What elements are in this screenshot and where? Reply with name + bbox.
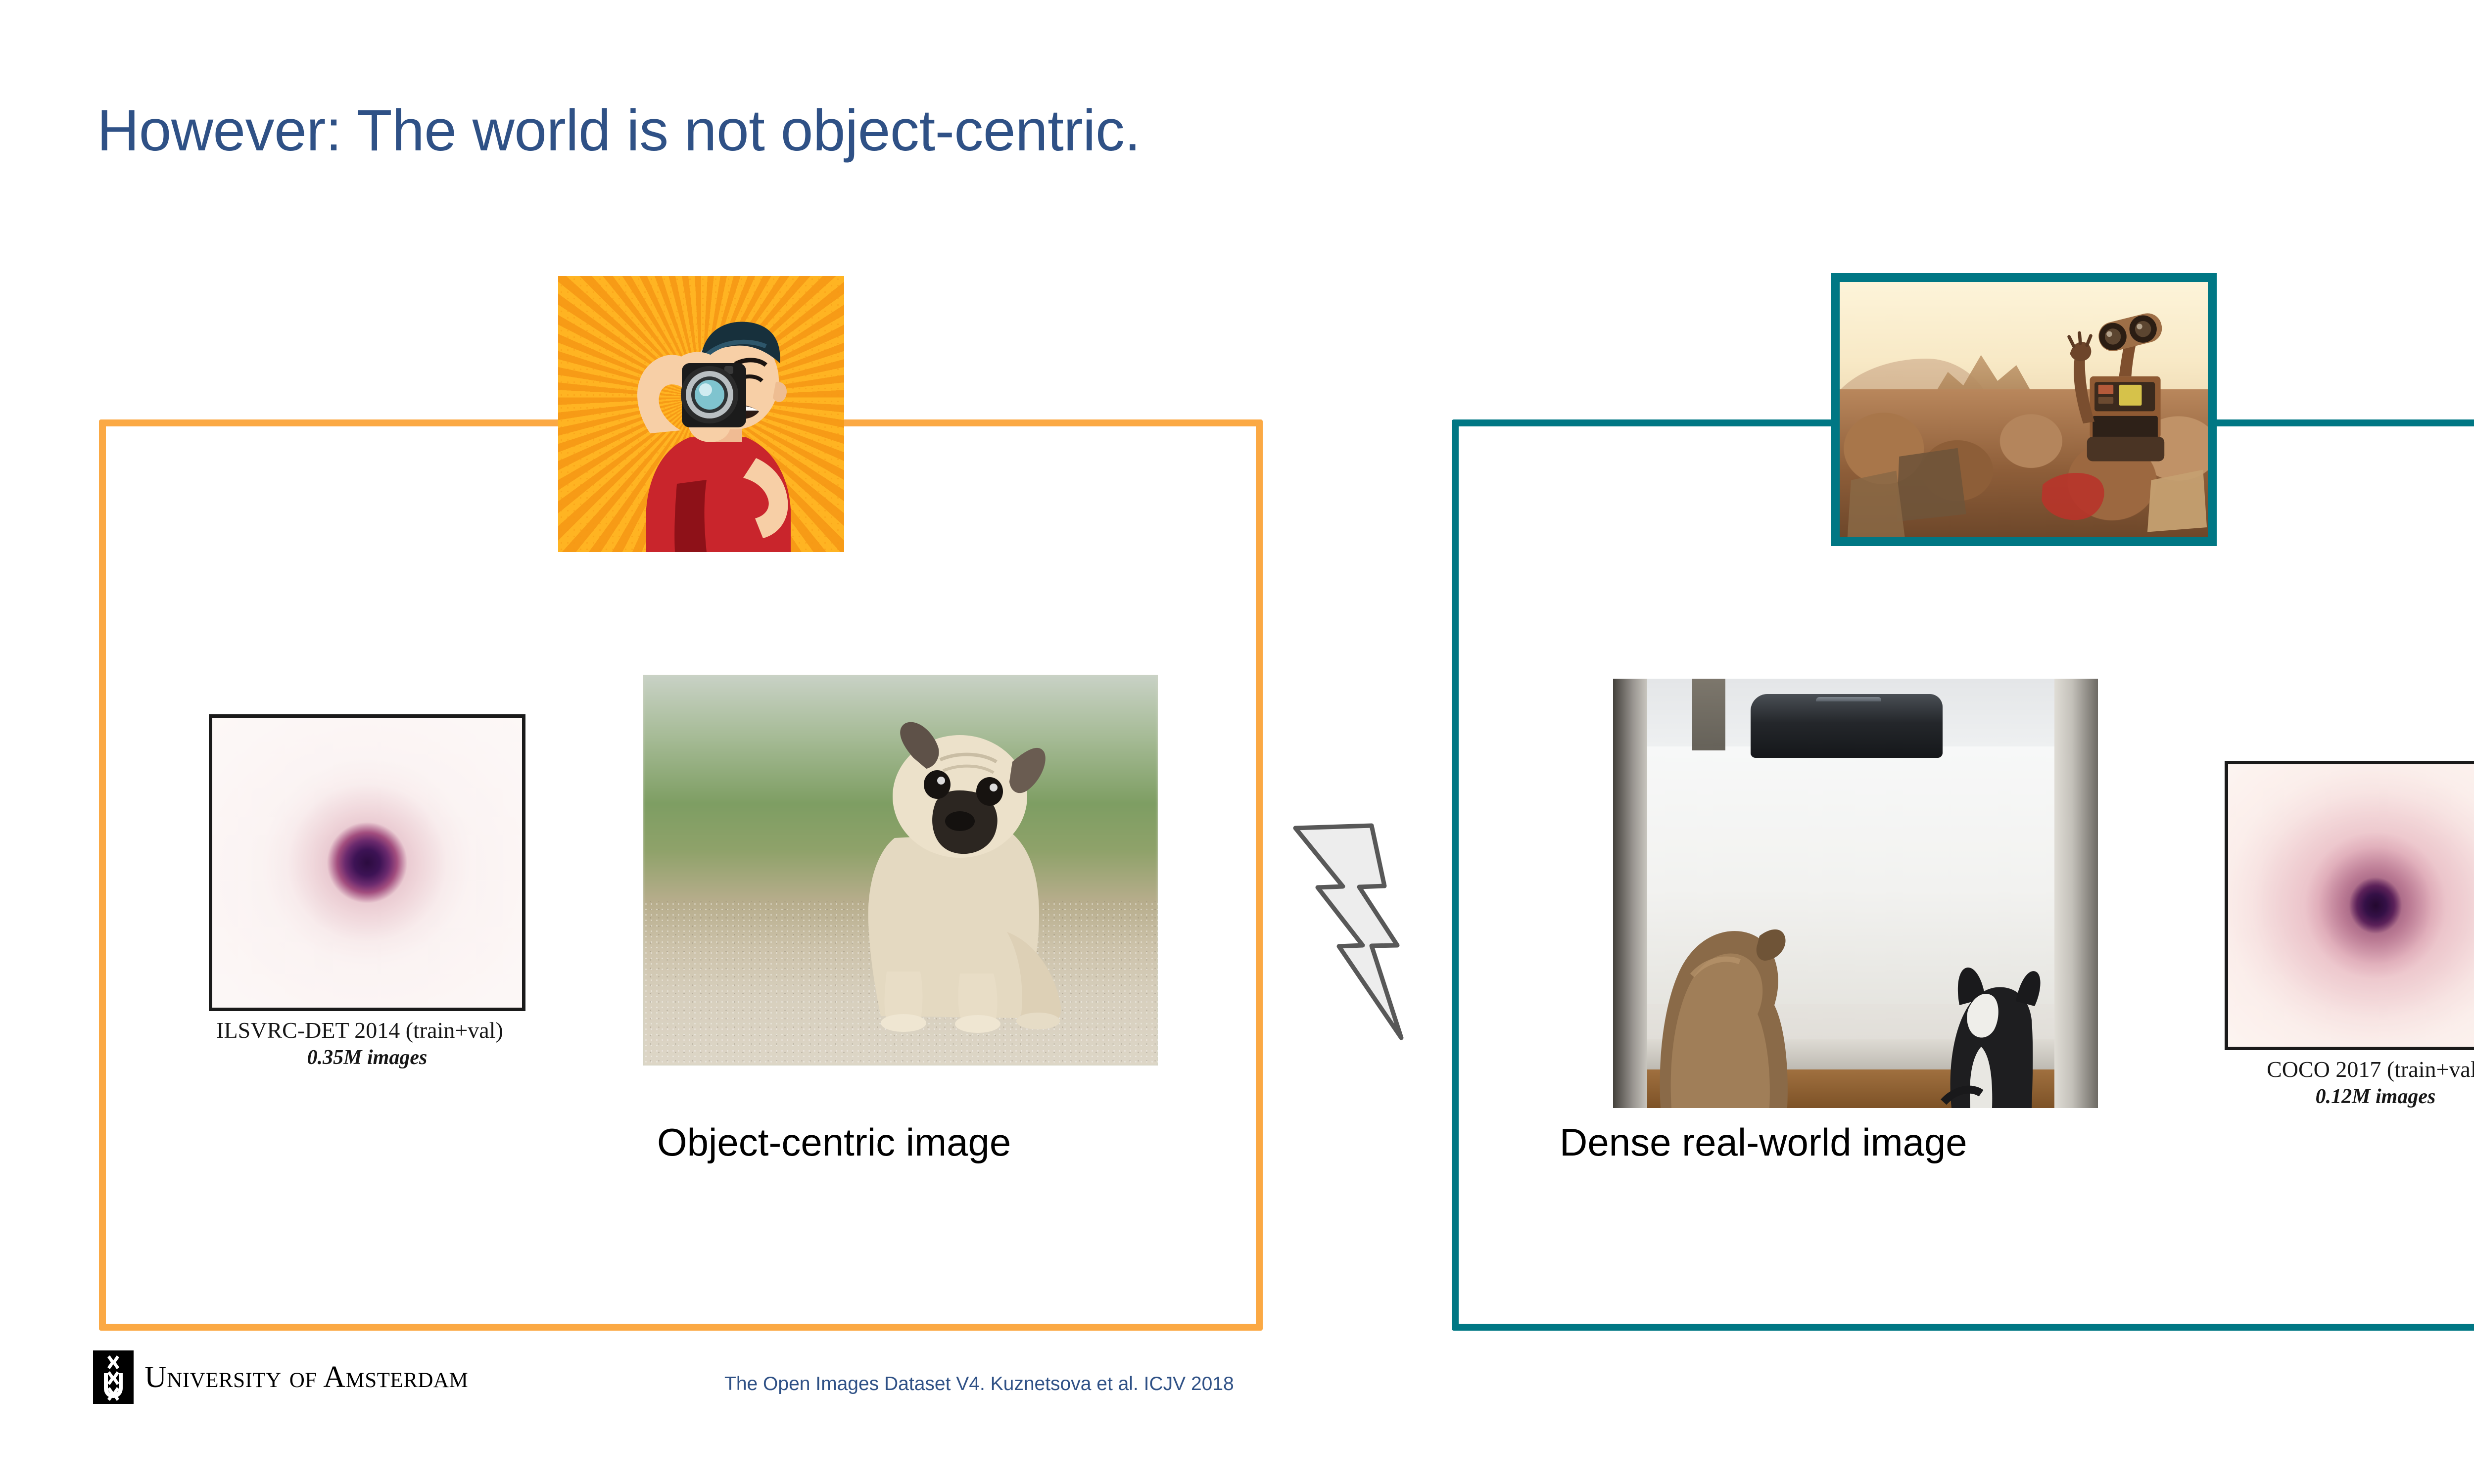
photographer-illustration bbox=[558, 276, 844, 552]
uva-wordmark: University of Amsterdam bbox=[144, 1362, 468, 1392]
pets-silhouettes bbox=[1613, 679, 2098, 1108]
heatmap-figure-coco: COCO 2017 (train+val) 0.12M images bbox=[2225, 761, 2474, 1108]
heatmap-image-count-ilsvrc: 0.35M images bbox=[209, 1046, 525, 1069]
heatmap-plot-ilsvrc bbox=[209, 714, 525, 1011]
heatmap-density-field bbox=[2228, 764, 2474, 1047]
dog-and-cat-at-window-photo bbox=[1613, 679, 2098, 1108]
crest-marks bbox=[93, 1350, 134, 1404]
uva-logo: University of Amsterdam bbox=[93, 1350, 468, 1404]
heatmap-image-count-coco: 0.12M images bbox=[2225, 1085, 2474, 1108]
photographer-figure bbox=[558, 276, 844, 552]
pug-dog-photo bbox=[643, 675, 1158, 1066]
heatmap-dataset-label-coco: COCO 2017 (train+val) bbox=[2225, 1057, 2474, 1082]
heatmap-figure-ilsvrc: ILSVRC-DET 2014 (train+val) 0.35M images bbox=[209, 714, 525, 1069]
walle-junkyard-illustration bbox=[1831, 273, 2217, 546]
object-centric-caption: Object-centric image bbox=[657, 1120, 1011, 1165]
lightning-bolt-icon bbox=[1280, 809, 1423, 1057]
dense-real-world-caption: Dense real-world image bbox=[1560, 1120, 1967, 1165]
heatmap-plot-coco bbox=[2225, 761, 2474, 1050]
pug-dog-figure bbox=[643, 675, 1158, 1066]
walle-robot-figure bbox=[1840, 282, 2208, 543]
heatmap-dataset-label-ilsvrc: ILSVRC-DET 2014 (train+val) bbox=[194, 1018, 525, 1043]
heatmap-density-field bbox=[212, 718, 522, 1008]
amsterdam-crest-icon bbox=[93, 1350, 134, 1404]
citation: The Open Images Dataset V4. Kuznetsova e… bbox=[724, 1373, 1234, 1395]
page-title: However: The world is not object-centric… bbox=[97, 97, 1141, 164]
